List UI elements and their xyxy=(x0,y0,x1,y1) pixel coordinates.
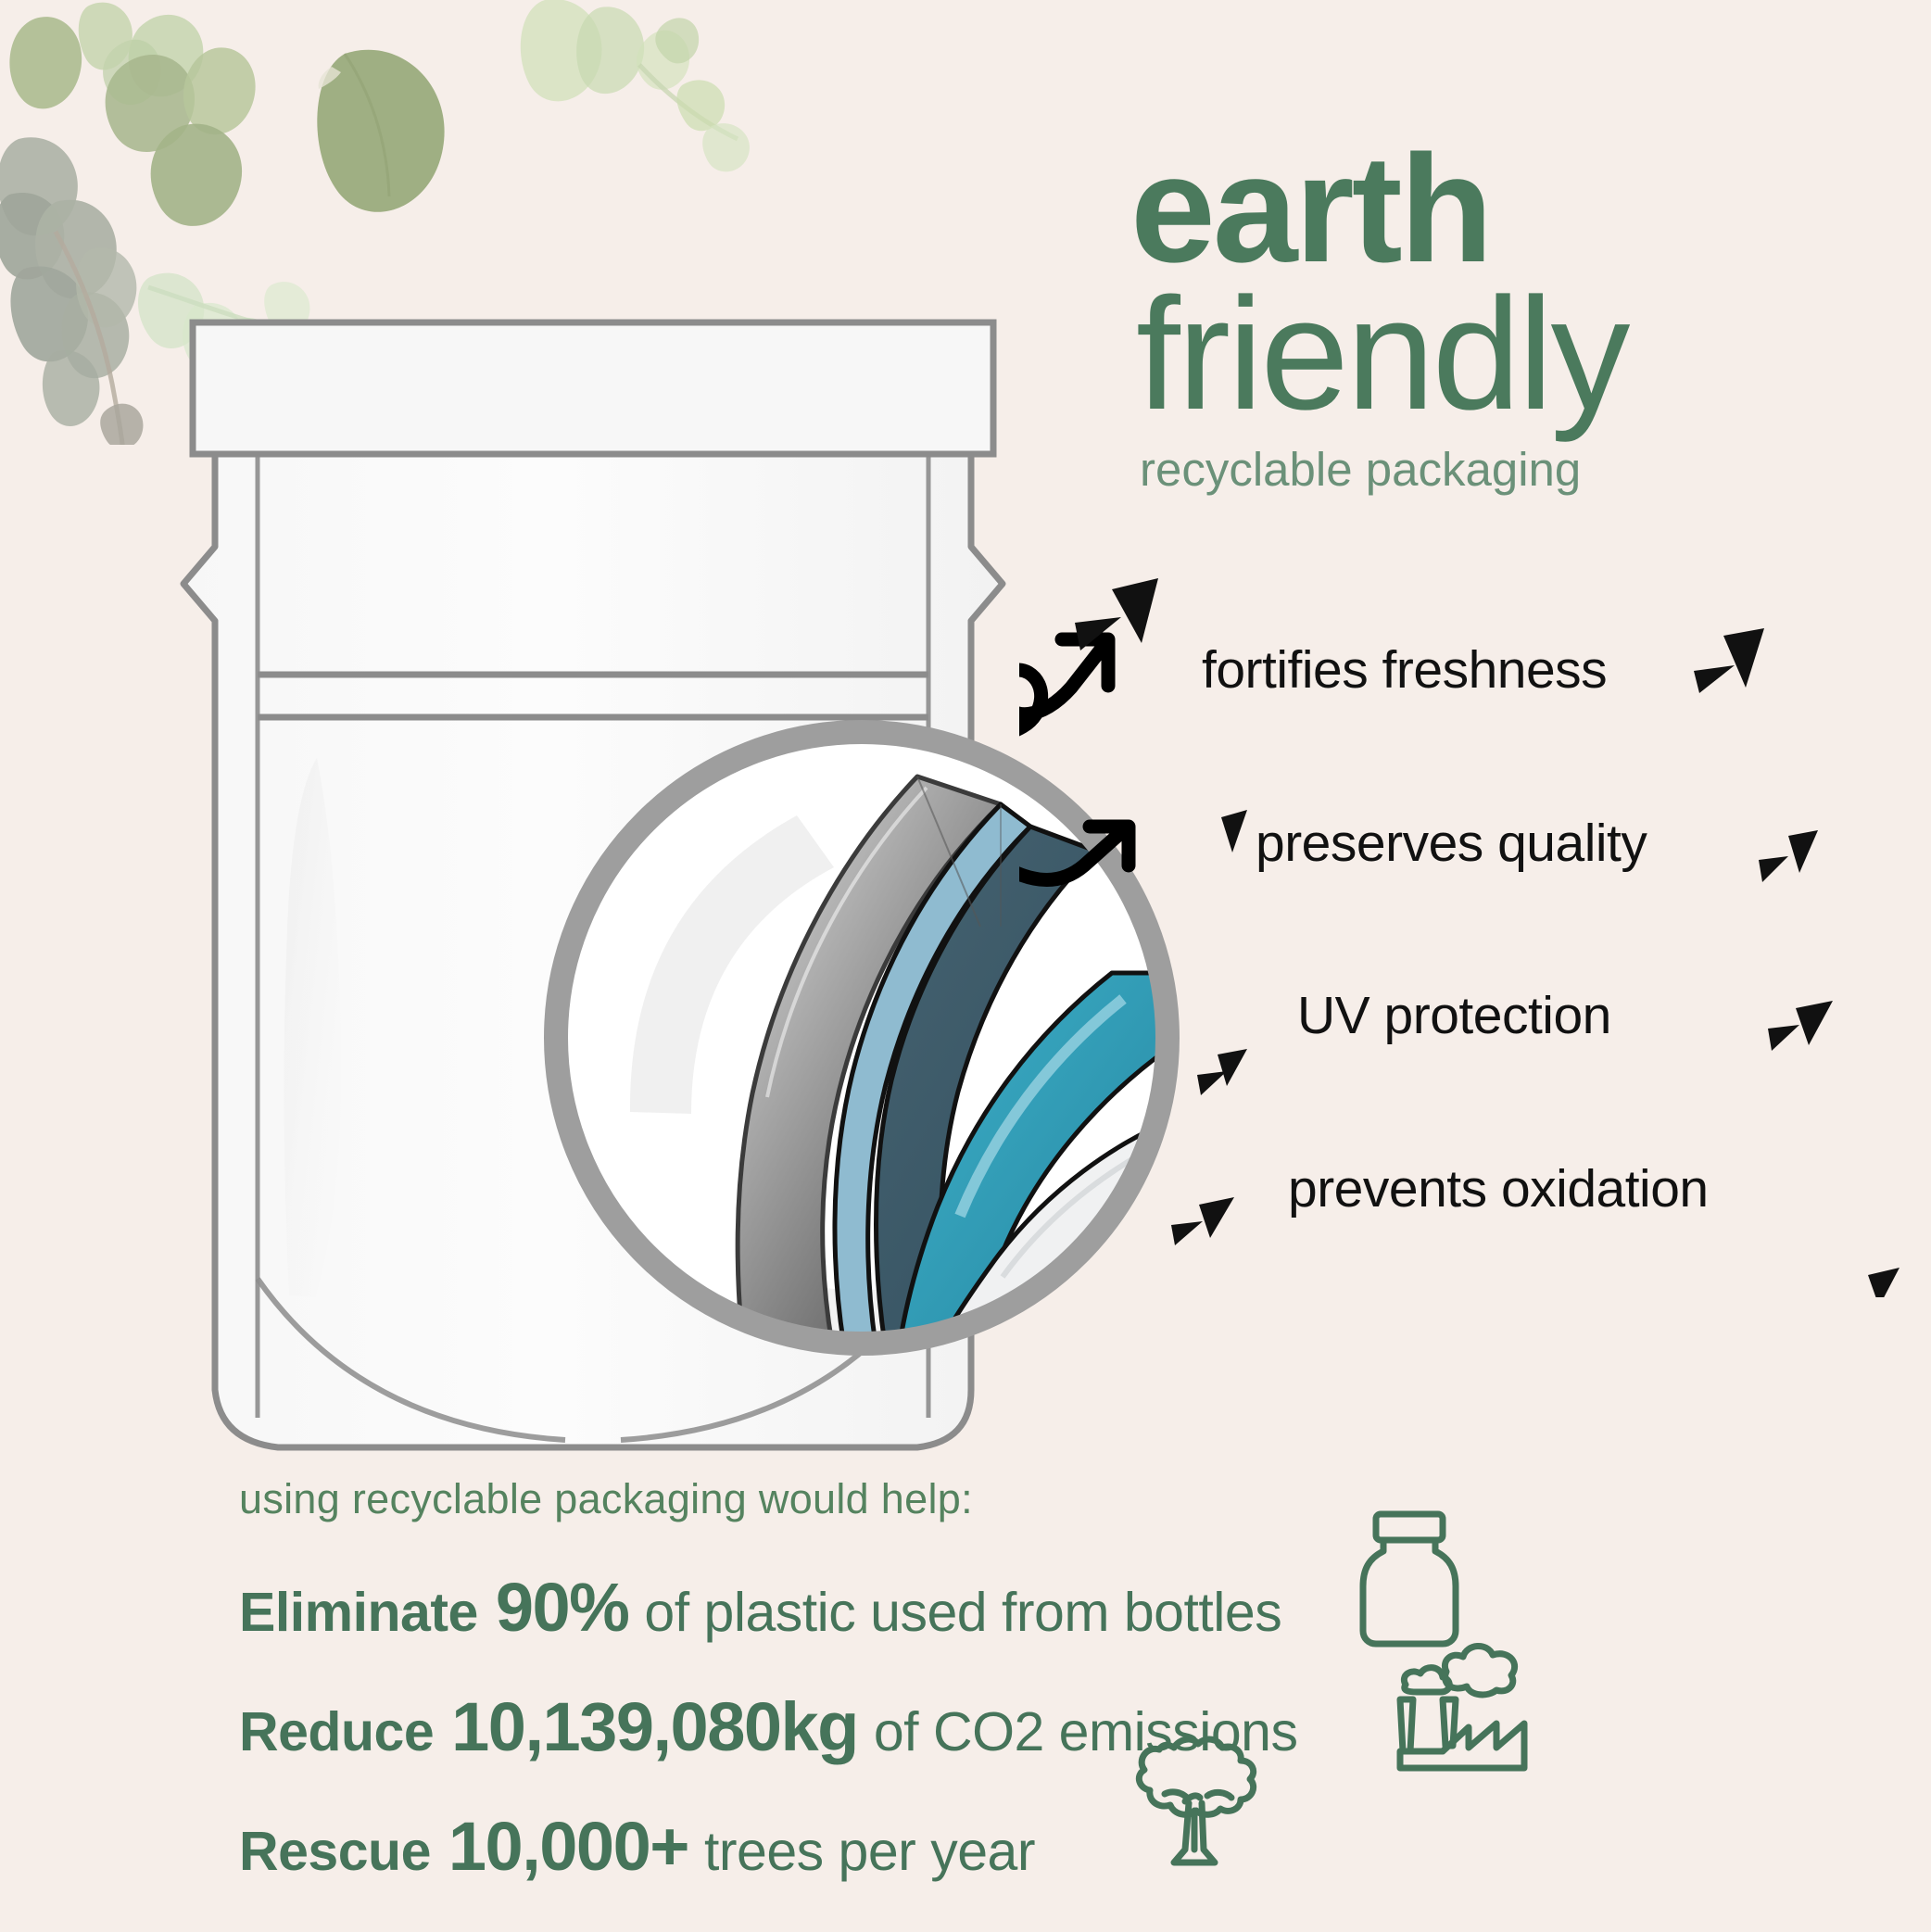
stat-tail: trees per year xyxy=(704,1820,1035,1883)
film-edge-tab xyxy=(1142,1177,1205,1245)
stat-number: 90% xyxy=(496,1568,629,1647)
infographic-page: earth friendly recyclable packaging fort… xyxy=(0,0,1931,1932)
pouch-top-seal xyxy=(193,322,993,454)
magnifier-circle xyxy=(519,695,1205,1381)
headline-friendly: friendly xyxy=(1136,280,1909,430)
tree-icon xyxy=(1117,1733,1263,1870)
stat-verb: Eliminate xyxy=(239,1581,478,1644)
headline-subtitle: recyclable packaging xyxy=(1140,442,1909,497)
feature-label-uv-protection: UV protection xyxy=(1297,985,1611,1046)
stat-number: 10,139,080kg xyxy=(451,1687,858,1766)
headline-block: earth friendly recyclable packaging xyxy=(1130,139,1909,497)
headline-earth: earth xyxy=(1130,139,1909,280)
stat-tail: of plastic used from bottles xyxy=(644,1581,1281,1644)
stat-row-rescue: Rescue 10,000+ trees per year xyxy=(239,1807,1685,1886)
stat-number: 10,000+ xyxy=(448,1807,688,1886)
factory-icon xyxy=(1385,1638,1530,1774)
feature-label-fortifies-freshness: fortifies freshness xyxy=(1202,639,1607,701)
stat-verb: Rescue xyxy=(239,1820,431,1883)
feature-label-preserves-quality: preserves quality xyxy=(1256,813,1647,874)
feature-label-prevents-oxidation: prevents oxidation xyxy=(1288,1158,1709,1219)
bottle-icon xyxy=(1348,1509,1470,1649)
stat-verb: Reduce xyxy=(239,1700,434,1763)
